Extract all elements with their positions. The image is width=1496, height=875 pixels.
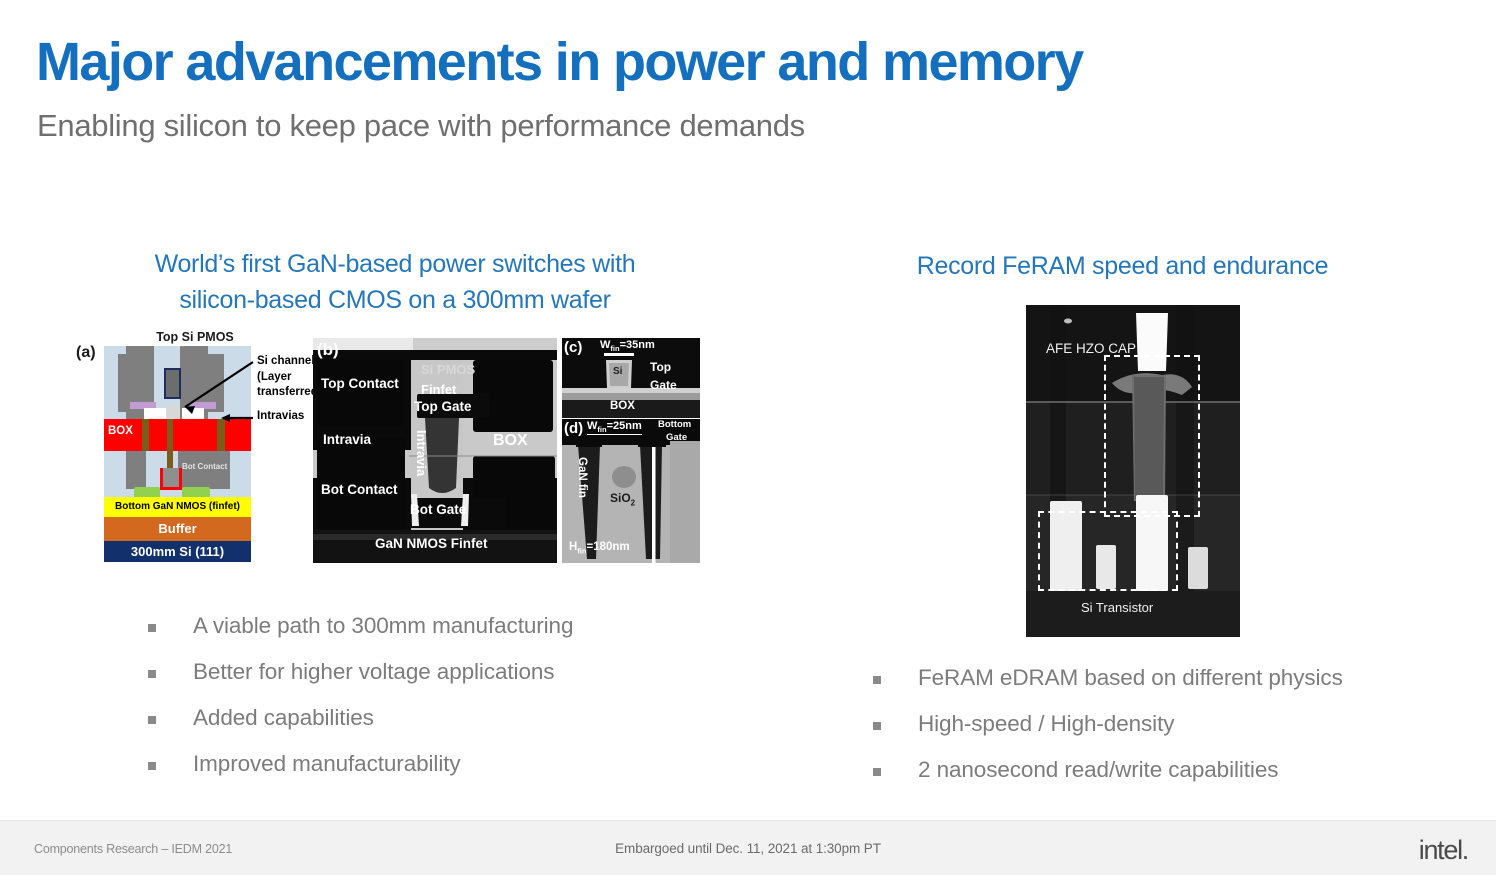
panel-b-box-label: BOX [493,432,528,450]
page-subtitle: Enabling silicon to keep pace with perfo… [37,108,805,144]
panel-d-wfin-sub: fin [597,425,606,434]
panel-d-tag: (d) [564,420,583,437]
panel-b-finfet-label: Finfet [421,382,456,397]
left-heading-line-1: World’s first GaN-based power switches w… [155,250,636,278]
footer-embargo-text: Embargoed until Dec. 11, 2021 at 1:30pm … [0,841,1496,856]
panel-a-substrate-label: 300mm Si (111) [104,544,251,559]
panel-a-buffer-label: Buffer [104,521,251,536]
panel-d-wfin-w: W [587,420,597,432]
list-item: Added capabilities [148,704,748,732]
panel-a-bot-contact-label: Bot Contact [182,462,227,471]
panel-b-bot-gate-label: Bot Gate [410,502,466,517]
panel-d-hfin-label: Hfin=180nm [569,541,630,555]
panel-a-cross-section: Top Contact BOX Bot Contact [104,346,251,562]
panel-d-sio2-label: SiO2 [610,491,635,507]
list-item: A viable path to 300mm manufacturing [148,612,748,640]
panel-d-bottom-label: Bottom [658,419,691,430]
panel-d-gate-label: Gate [666,432,687,443]
bullet-square-icon [148,670,156,678]
intel-logo: intel. [1419,835,1468,866]
list-item: FeRAM eDRAM based on different physics [873,664,1433,692]
si-transistor-label: Si Transistor [1081,600,1153,615]
panel-d-gan-fin-label: GaN fin [576,457,588,498]
bullet-square-icon [148,762,156,770]
list-item: High-speed / High-density [873,710,1433,738]
left-column-heading: World’s first GaN-based power switches w… [75,246,715,319]
si-channel-line-3: transferred) [257,386,322,398]
white-layer-left [144,408,166,419]
figure-panel-a-schematic: Top Si PMOS (a) Top Contact BOX [75,330,315,565]
left-heading-line-2: silicon-based CMOS on a 300mm wafer [179,286,610,314]
right-bullet-list: FeRAM eDRAM based on different physics H… [873,664,1433,802]
afe-hzo-cap-label: AFE HZO CAP [1046,341,1136,356]
gan-cmos-figure-group: Top Si PMOS (a) Top Contact BOX [75,330,715,565]
si-transistor-dashed-box [1038,511,1178,591]
intravia-left [142,419,149,451]
panel-c-box-label: BOX [610,400,635,412]
panel-a-box-label: BOX [108,425,133,437]
panel-c-wfin-sub: fin [610,344,619,353]
bullet-label: Added capabilities [193,704,374,732]
page-title: Major advancements in power and memory [36,34,1083,91]
right-column-heading: Record FeRAM speed and endurance [860,248,1385,284]
panel-d-wfin-label: Wfin=25nm [587,420,642,435]
panel-a-top-si-pmos-label: Top Si PMOS [115,330,275,344]
green-drain-right [182,487,210,497]
panel-d-hfin-value: =180nm [586,541,629,553]
figure-panel-c-tem: (c) Wfin=35nm Si Top Gate BOX [562,338,700,418]
bullet-square-icon [148,624,156,632]
panel-c-tag: (c) [564,339,582,356]
bullet-label: 2 nanosecond read/write capabilities [918,756,1278,784]
bullet-square-icon [873,722,881,730]
figure-panel-b-tem: (b) Top Contact Intravia Bot Contact Si … [313,338,557,563]
si-channel-line-2: (Layer [257,371,292,383]
bullet-square-icon [148,716,156,724]
intravia-center [167,419,173,471]
panel-c-wfin-label: Wfin=35nm [600,339,655,353]
panel-b-si-pmos-label: Si PMOS [421,362,475,377]
panel-a-tag: (a) [76,344,96,362]
panel-b-top-contact-label: Top Contact [321,376,399,391]
panel-b-top-gate-label: Top Gate [414,399,472,414]
feram-tem-figure: AFE HZO CAP Si Transistor [1026,305,1240,637]
bullet-label: A viable path to 300mm manufacturing [193,612,573,640]
panel-c-si-label: Si [613,366,622,377]
si-channel-line-1: Si channel [257,355,315,367]
bullet-square-icon [873,768,881,776]
left-bullet-list: A viable path to 300mm manufacturing Bet… [148,612,748,797]
panel-d-sio2-sub: 2 [631,498,635,507]
panel-b-caption-label: GaN NMOS Finfet [375,536,488,551]
panel-a-top-contact-label: Top Contact [177,346,186,348]
panel-d-sio2-text: SiO [610,491,631,505]
list-item: Better for higher voltage applications [148,658,748,686]
bullet-label: High-speed / High-density [918,710,1174,738]
si-channel-region [166,406,180,420]
figure-panel-d-tem: (d) Wfin=25nm Bottom Gate GaN fin SiO2 H… [562,419,700,563]
panel-c-top-label: Top [650,360,671,374]
bullet-label: Improved manufacturability [193,750,461,778]
afe-hzo-cap-dashed-box [1104,355,1200,517]
panel-a-gan-nmos-label: Bottom GaN NMOS (finfet) [104,501,251,512]
list-item: 2 nanosecond read/write capabilities [873,756,1433,784]
panel-c-wfin-value: =35nm [620,339,655,351]
bottom-gate-region [160,468,182,490]
panel-b-bot-contact-label: Bot Contact [321,482,398,497]
top-gate-stack [164,368,181,399]
slide: Major advancements in power and memory E… [0,0,1496,875]
intravia-right [217,419,225,451]
bot-contact-left-block [126,451,146,489]
bullet-label: Better for higher voltage applications [193,658,554,686]
panel-b-intravia-label: Intravia [323,432,371,447]
white-layer-right [182,408,204,419]
bullet-square-icon [873,676,881,684]
bullet-label: FeRAM eDRAM based on different physics [918,664,1343,692]
panel-b-tag: (b) [317,340,339,360]
panel-d-wfin-value: =25nm [607,420,642,432]
list-item: Improved manufacturability [148,750,748,778]
green-source-left [134,487,160,497]
panel-b-intravia-vertical-label: Intravia [414,430,429,476]
footer-bar: Components Research – IEDM 2021 Embargoe… [0,820,1496,875]
panel-c-gate-label: Gate [650,378,677,392]
panel-a-intravias-annotation: Intravias [257,410,304,422]
panel-c-wfin-w: W [600,339,610,351]
